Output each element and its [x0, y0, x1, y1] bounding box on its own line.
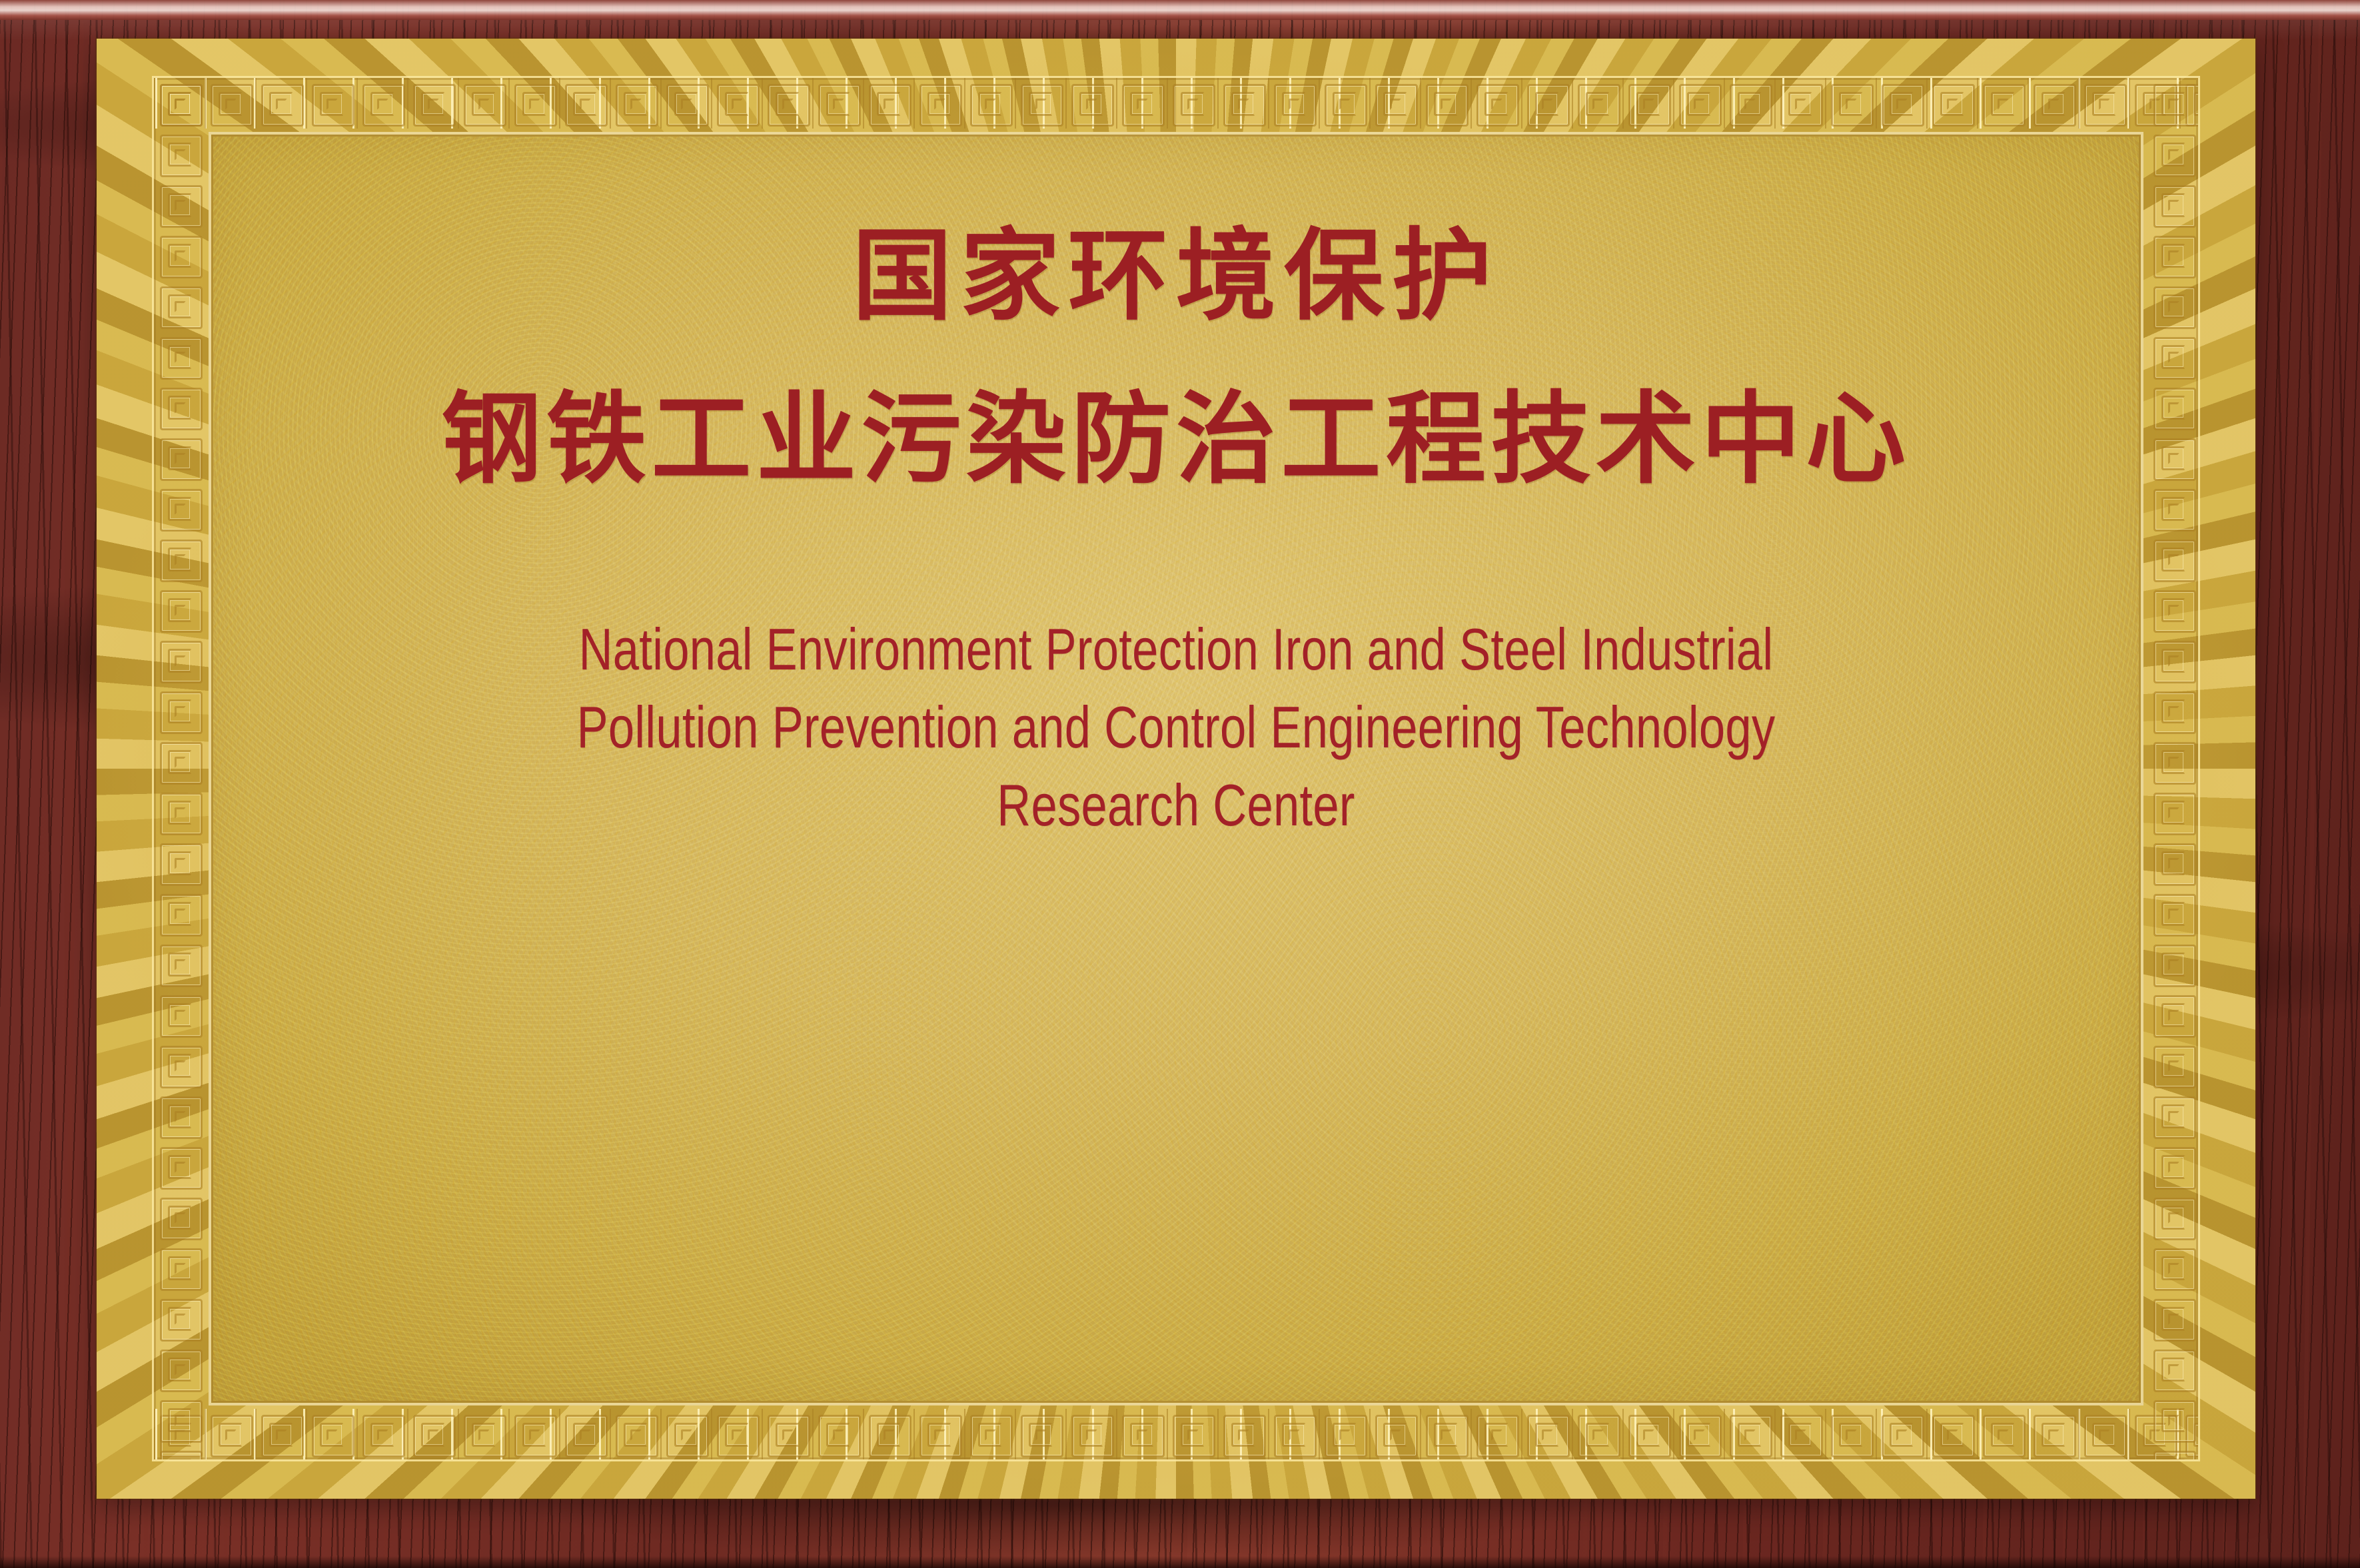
chinese-title-line-2: 钢铁工业污染防治工程技术中心: [441, 380, 1910, 498]
english-title-line-1: National Environment Protection Iron and…: [97, 610, 2255, 688]
english-title: National Environment Protection Iron and…: [97, 610, 2255, 844]
english-title-line-2: Pollution Prevention and Control Enginee…: [97, 688, 2255, 766]
plaque-content: 国家环境保护 钢铁工业污染防治工程技术中心 National Environme…: [97, 39, 2255, 1499]
award-plaque: 国家环境保护 钢铁工业污染防治工程技术中心 National Environme…: [0, 0, 2360, 1568]
frame-top-highlight: [0, 0, 2360, 20]
frame-bottom-shadow: [0, 1556, 2360, 1568]
chinese-title-line-1: 国家环境保护: [852, 217, 1500, 335]
gold-plate: 国家环境保护 钢铁工业污染防治工程技术中心 National Environme…: [97, 39, 2255, 1499]
english-title-line-3: Research Center: [97, 766, 2255, 844]
